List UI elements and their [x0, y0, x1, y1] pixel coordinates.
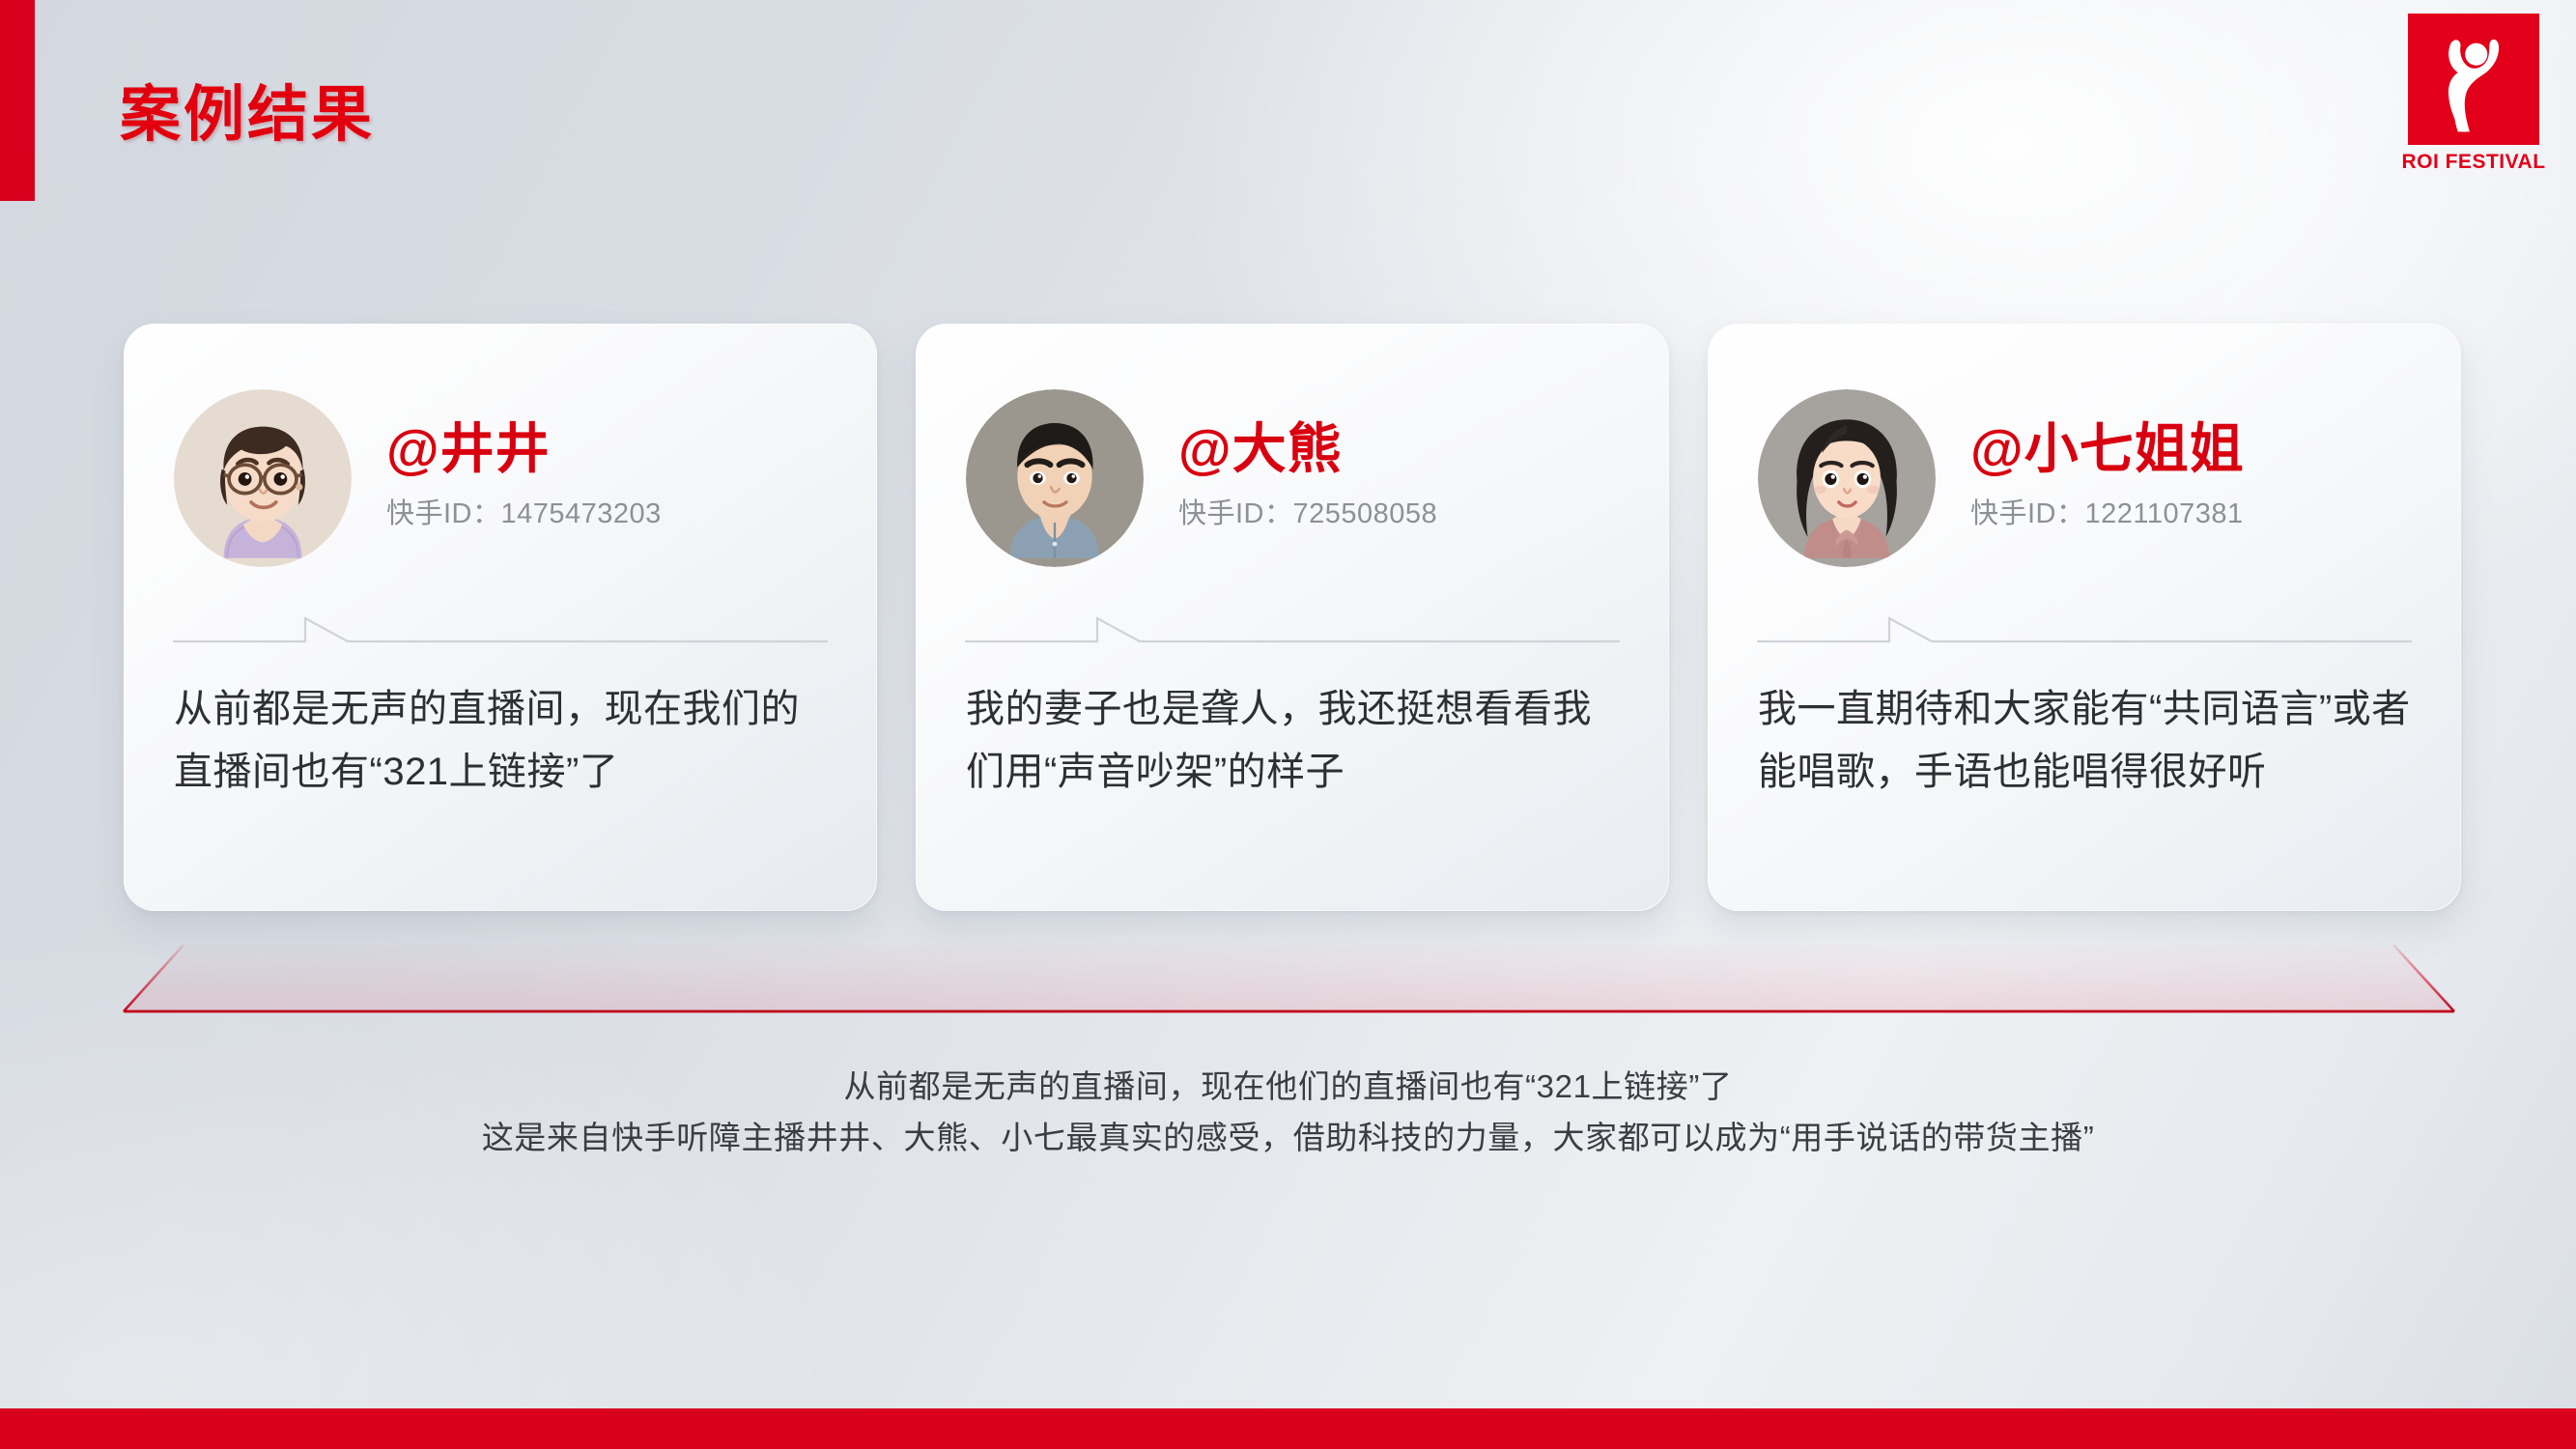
stage-trapezoid — [0, 898, 2576, 1034]
avatar-jingjing — [174, 389, 352, 567]
avatar-xiaoqi — [1758, 389, 1936, 567]
notched-divider — [124, 612, 877, 653]
creator-handle: @井井 — [386, 419, 662, 480]
testimonial-card[interactable]: @小七姐姐 快手ID：1221107381 我一直期待和大家能有“共同语言”或者… — [1708, 324, 2461, 911]
logo-text: ROI FESTIVAL — [2392, 151, 2555, 174]
summary-block: 从前都是无声的直播间，现在他们的直播间也有“321上链接”了 这是来自快手听障主… — [0, 1061, 2576, 1164]
kuaishou-id: 快手ID：1475473203 — [386, 491, 662, 531]
notched-divider — [1708, 612, 2461, 653]
roi-festival-logo: ROI FESTIVAL — [2392, 14, 2555, 174]
avatar-daxiong — [966, 389, 1144, 567]
kuaishou-id: 快手ID：725508058 — [1178, 491, 1437, 531]
creator-quote: 我一直期待和大家能有“共同语言”或者能唱歌，手语也能唱得很好听 — [1708, 653, 2461, 804]
card-identity: @小七姐姐 快手ID：1221107381 — [1970, 419, 2245, 538]
notched-divider — [916, 612, 1669, 653]
slide-root: 案例结果 ROI FESTIVAL — [0, 0, 2576, 1449]
creator-quote: 从前都是无声的直播间，现在我们的直播间也有“321上链接”了 — [124, 653, 877, 804]
creator-handle: @大熊 — [1178, 419, 1437, 480]
kuaishou-id: 快手ID：1221107381 — [1970, 491, 2245, 531]
creator-handle: @小七姐姐 — [1970, 419, 2245, 480]
creator-quote: 我的妻子也是聋人，我还挺想看看我们用“声音吵架”的样子 — [916, 653, 1669, 804]
card-identity: @井井 快手ID：1475473203 — [386, 419, 662, 538]
summary-line-2: 这是来自快手听障主播井井、大熊、小七最真实的感受，借助科技的力量，大家都可以成为… — [0, 1112, 2576, 1163]
page-title: 案例结果 — [120, 85, 375, 146]
testimonial-card[interactable]: @大熊 快手ID：725508058 我的妻子也是聋人，我还挺想看看我们用“声音… — [916, 324, 1669, 911]
bottom-accent-bar — [0, 1408, 2576, 1449]
card-header: @井井 快手ID：1475473203 — [124, 324, 877, 567]
testimonial-card-row: @井井 快手ID：1475473203 从前都是无声的直播间，现在我们的直播间也… — [124, 324, 2461, 911]
testimonial-card[interactable]: @井井 快手ID：1475473203 从前都是无声的直播间，现在我们的直播间也… — [124, 324, 877, 911]
card-header: @小七姐姐 快手ID：1221107381 — [1708, 324, 2461, 567]
card-identity: @大熊 快手ID：725508058 — [1178, 419, 1437, 538]
card-header: @大熊 快手ID：725508058 — [916, 324, 1669, 567]
accent-bar-left — [0, 0, 35, 201]
logo-mark-icon — [2408, 14, 2539, 145]
summary-line-1: 从前都是无声的直播间，现在他们的直播间也有“321上链接”了 — [0, 1061, 2576, 1112]
